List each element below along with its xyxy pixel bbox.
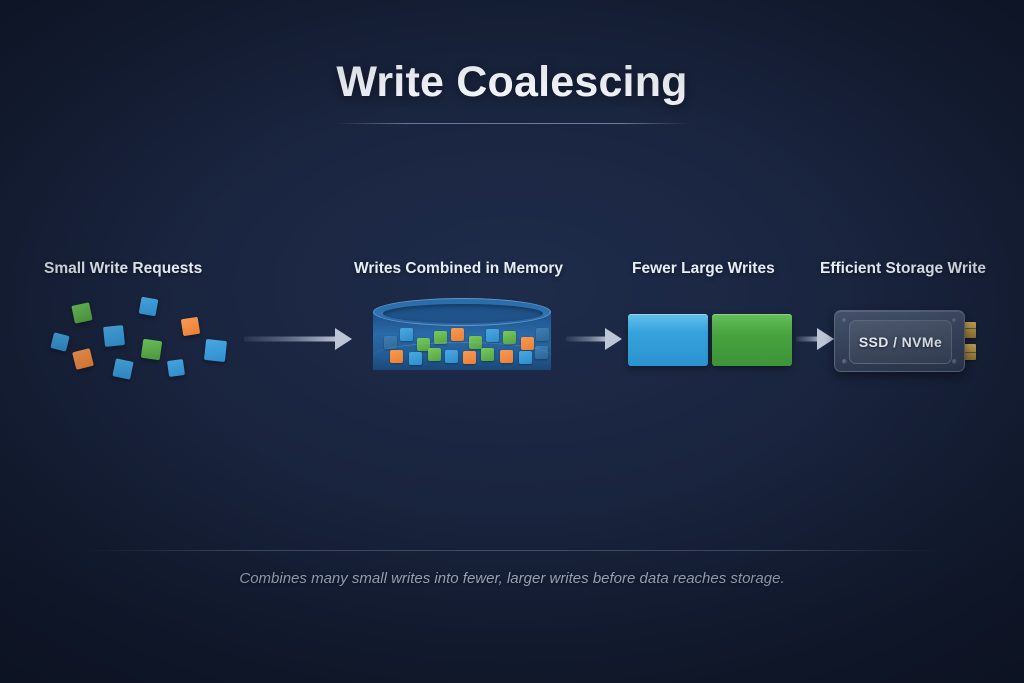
buffered-write-square [451, 328, 464, 341]
storage-device-body: SSD / NVMe [834, 310, 965, 372]
small-write-square [181, 317, 200, 336]
buffered-write-square [409, 352, 422, 365]
diagram-canvas: Write Coalescing Small Write Requests Wr… [0, 0, 1024, 683]
buffered-write-square [519, 351, 532, 364]
buffered-write-square [428, 348, 441, 361]
buffered-write-square [481, 348, 494, 361]
small-write-square [167, 359, 185, 377]
buffered-write-square [521, 337, 534, 350]
footer-divider [82, 550, 942, 551]
buffered-write-square [486, 329, 499, 342]
buffered-write-square [390, 350, 403, 363]
buffered-write-square [445, 350, 458, 363]
arrow-head [817, 328, 834, 350]
arrow-memory-to-blocks-icon [566, 329, 622, 349]
small-write-square [112, 358, 133, 379]
large-write-block-1 [628, 314, 708, 366]
screw-icon [842, 318, 847, 323]
buffered-write-square [536, 328, 549, 341]
buffered-write-square [434, 331, 447, 344]
buffered-write-square [469, 336, 482, 349]
buffered-write-square [503, 331, 516, 344]
small-write-square [204, 339, 227, 362]
large-write-block-2 [712, 314, 792, 366]
buffered-write-square [535, 346, 548, 359]
arrow-shaft [244, 337, 336, 342]
buffered-write-square [400, 328, 413, 341]
arrow-shaft [566, 337, 608, 342]
small-write-square [103, 325, 125, 347]
storage-device-panel: SSD / NVMe [849, 320, 952, 364]
small-write-square [72, 348, 94, 370]
screw-icon [842, 359, 847, 364]
small-write-square [141, 339, 162, 360]
screw-icon [952, 359, 957, 364]
small-write-square [139, 297, 159, 317]
storage-device: SSD / NVMe [834, 310, 979, 372]
buffered-write-square [463, 351, 476, 364]
screw-icon [952, 318, 957, 323]
buffered-write-square [384, 336, 397, 349]
footer-caption: Combines many small writes into fewer, l… [0, 570, 1024, 587]
cylinder-top-rim [373, 298, 551, 326]
arrow-requests-to-memory-icon [244, 328, 352, 350]
arrow-head [335, 328, 352, 350]
memory-buffer-cylinder [373, 298, 551, 384]
arrow-blocks-to-storage-icon [796, 329, 834, 349]
storage-device-label: SSD / NVMe [859, 334, 942, 350]
small-write-square [50, 332, 69, 351]
arrow-head [605, 328, 622, 350]
buffered-write-square [500, 350, 513, 363]
cylinder-top-inner [383, 304, 543, 323]
small-write-square [71, 302, 92, 323]
